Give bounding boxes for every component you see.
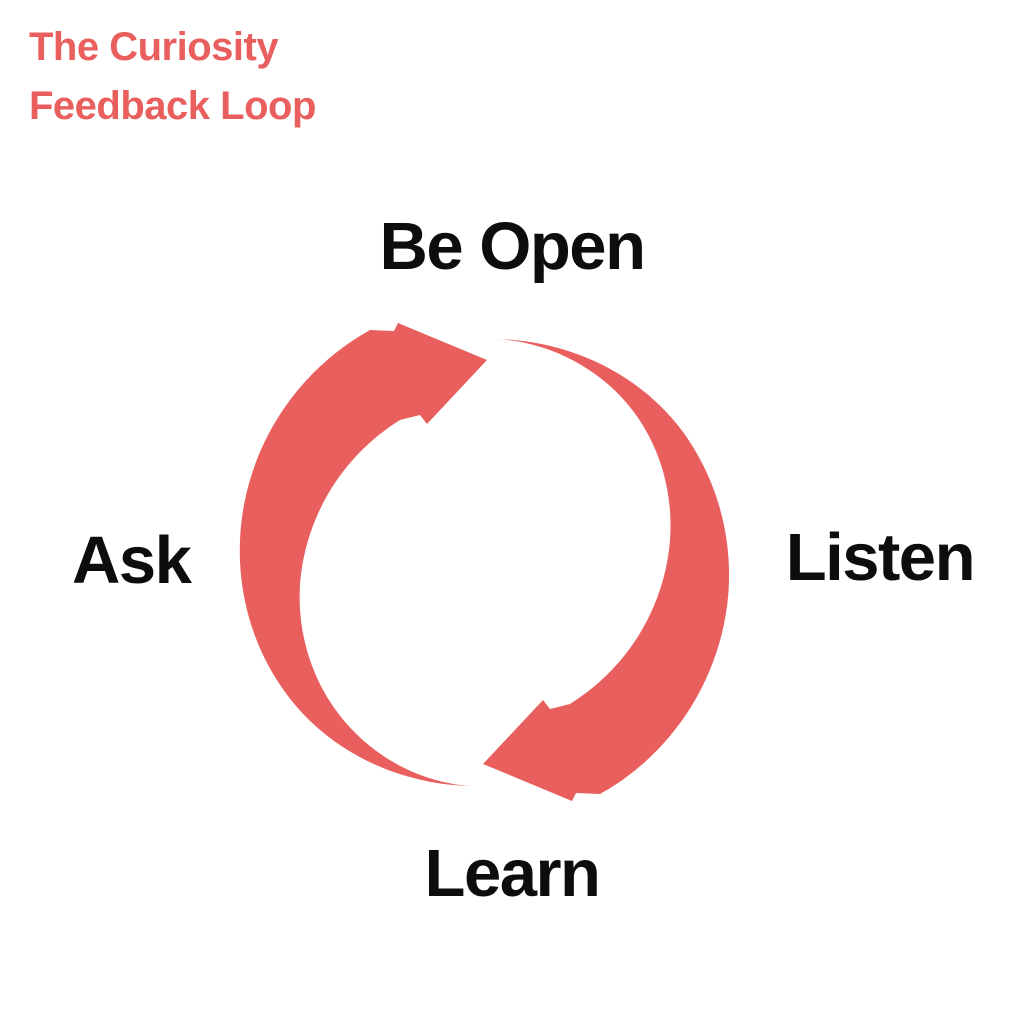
curiosity-loop-diagram: Be Open Listen Learn Ask xyxy=(0,0,1024,1024)
stage-label-learn: Learn xyxy=(0,840,1024,907)
descending-arc-icon xyxy=(483,339,729,801)
stage-label-ask: Ask xyxy=(72,527,190,594)
stage-label-listen: Listen xyxy=(786,524,974,591)
poster-canvas: The Curiosity Feedback Loop Be Open List… xyxy=(0,0,1024,1024)
stage-label-be-open: Be Open xyxy=(0,213,1024,280)
ascending-arc-icon xyxy=(240,323,487,786)
